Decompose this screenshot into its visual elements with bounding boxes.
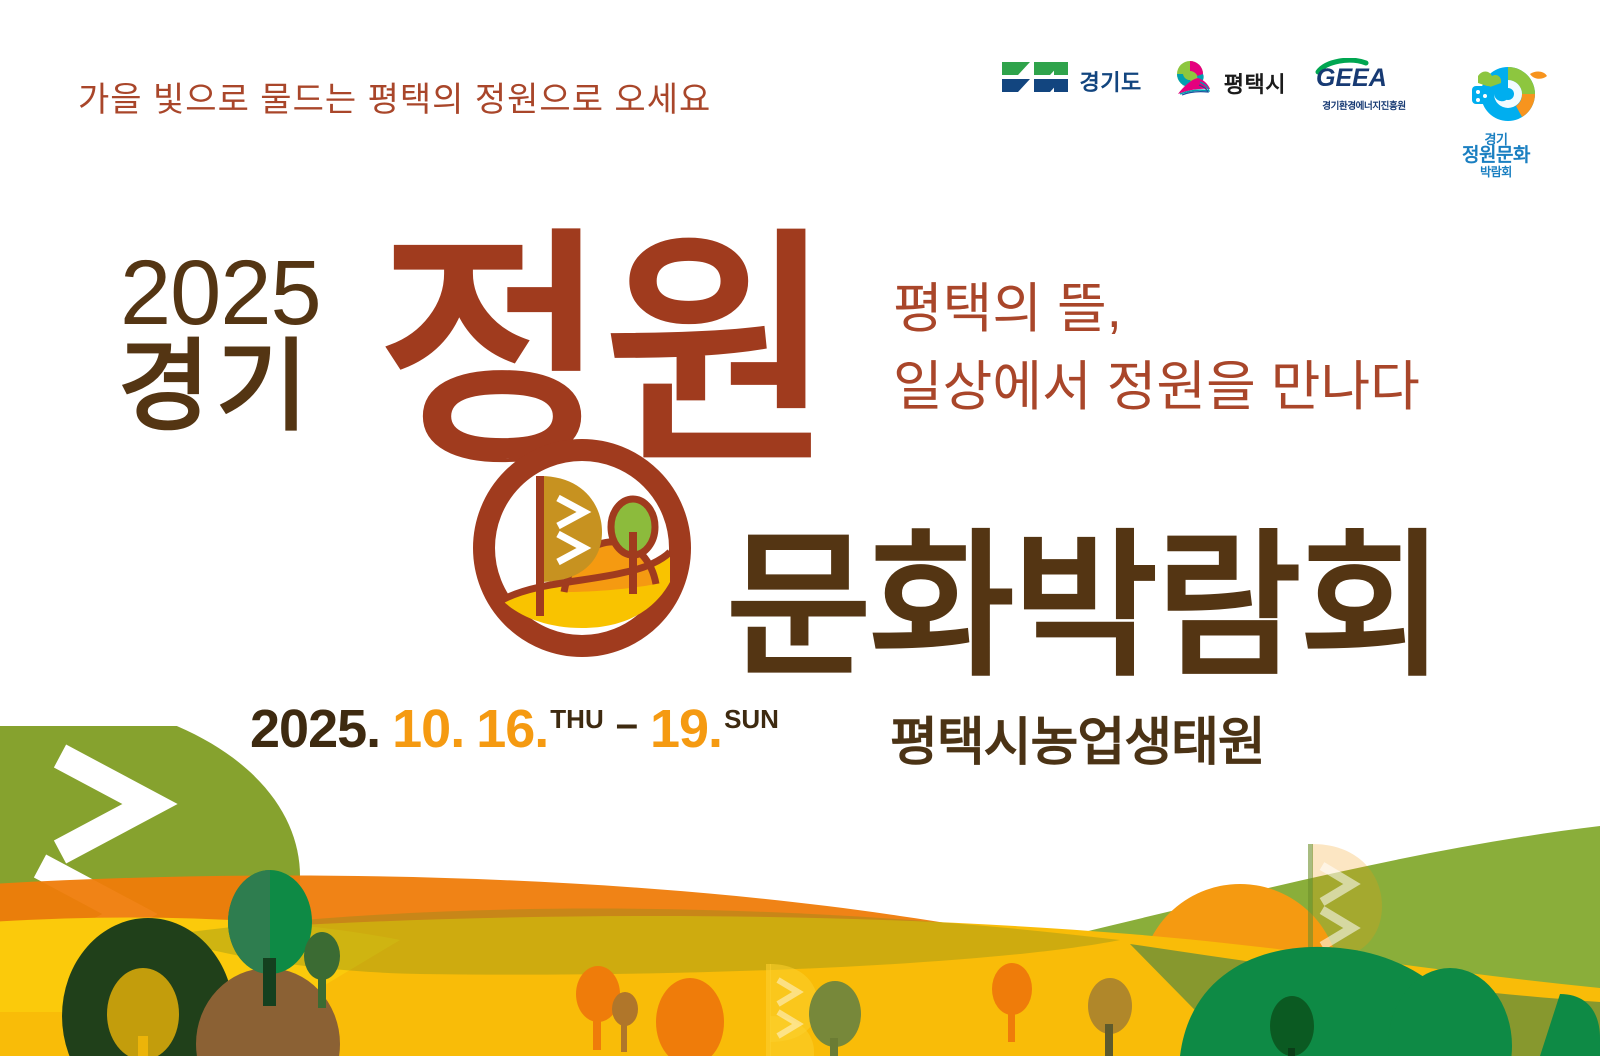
garden-circle-emblem [466, 432, 698, 664]
title-year: 2025 [120, 250, 321, 337]
title-province: 경기 [118, 340, 314, 435]
autumn-garden-landscape [0, 726, 1600, 1056]
title-main-tail: 문화박람회 [726, 532, 1443, 682]
logo-label-pyeongtaek-si: 평택시 [1224, 67, 1286, 99]
logo-label-gyeonggi-do: 경기도 [1080, 65, 1142, 97]
logo-sublabel-geea: 경기환경에너지진흥원 [1322, 98, 1405, 112]
logo-gyeonggi-do: 경기도 [1000, 58, 1142, 103]
logo-geea: GEEA 경기환경에너지진흥원 [1312, 58, 1416, 112]
subtitle-line-2: 일상에서 정원을 만나다 [893, 348, 1420, 426]
sponsor-logo-row: 경기도 평택시 [1000, 58, 1550, 178]
pyeongtaek-swirl-icon [1168, 58, 1216, 107]
gyeonggi-arrows-icon [1000, 58, 1072, 103]
svg-text:GEEA: GEEA [1316, 64, 1387, 92]
logo-pyeongtaek-si: 평택시 [1168, 58, 1286, 107]
logo-fair-line2: 정원문화 [1462, 146, 1530, 165]
logo-fair-line3: 박람회 [1462, 166, 1530, 178]
title-block: 2025 경기 정원 [0, 232, 1600, 672]
title-subtitle: 평택의 뜰, 일상에서 정원을 만나다 [893, 270, 1420, 427]
subtitle-line-1: 평택의 뜰, [893, 270, 1420, 348]
logo-garden-fair: 경기 정원문화 박람회 [1442, 62, 1550, 178]
tagline: 가을 빛으로 물드는 평택의 정원으로 오세요 [78, 72, 711, 121]
poster-canvas: 가을 빛으로 물드는 평택의 정원으로 오세요 경기도 [0, 0, 1600, 1056]
geea-logo-icon: GEEA [1312, 58, 1416, 97]
garden-fair-emblem-icon [1442, 62, 1550, 133]
